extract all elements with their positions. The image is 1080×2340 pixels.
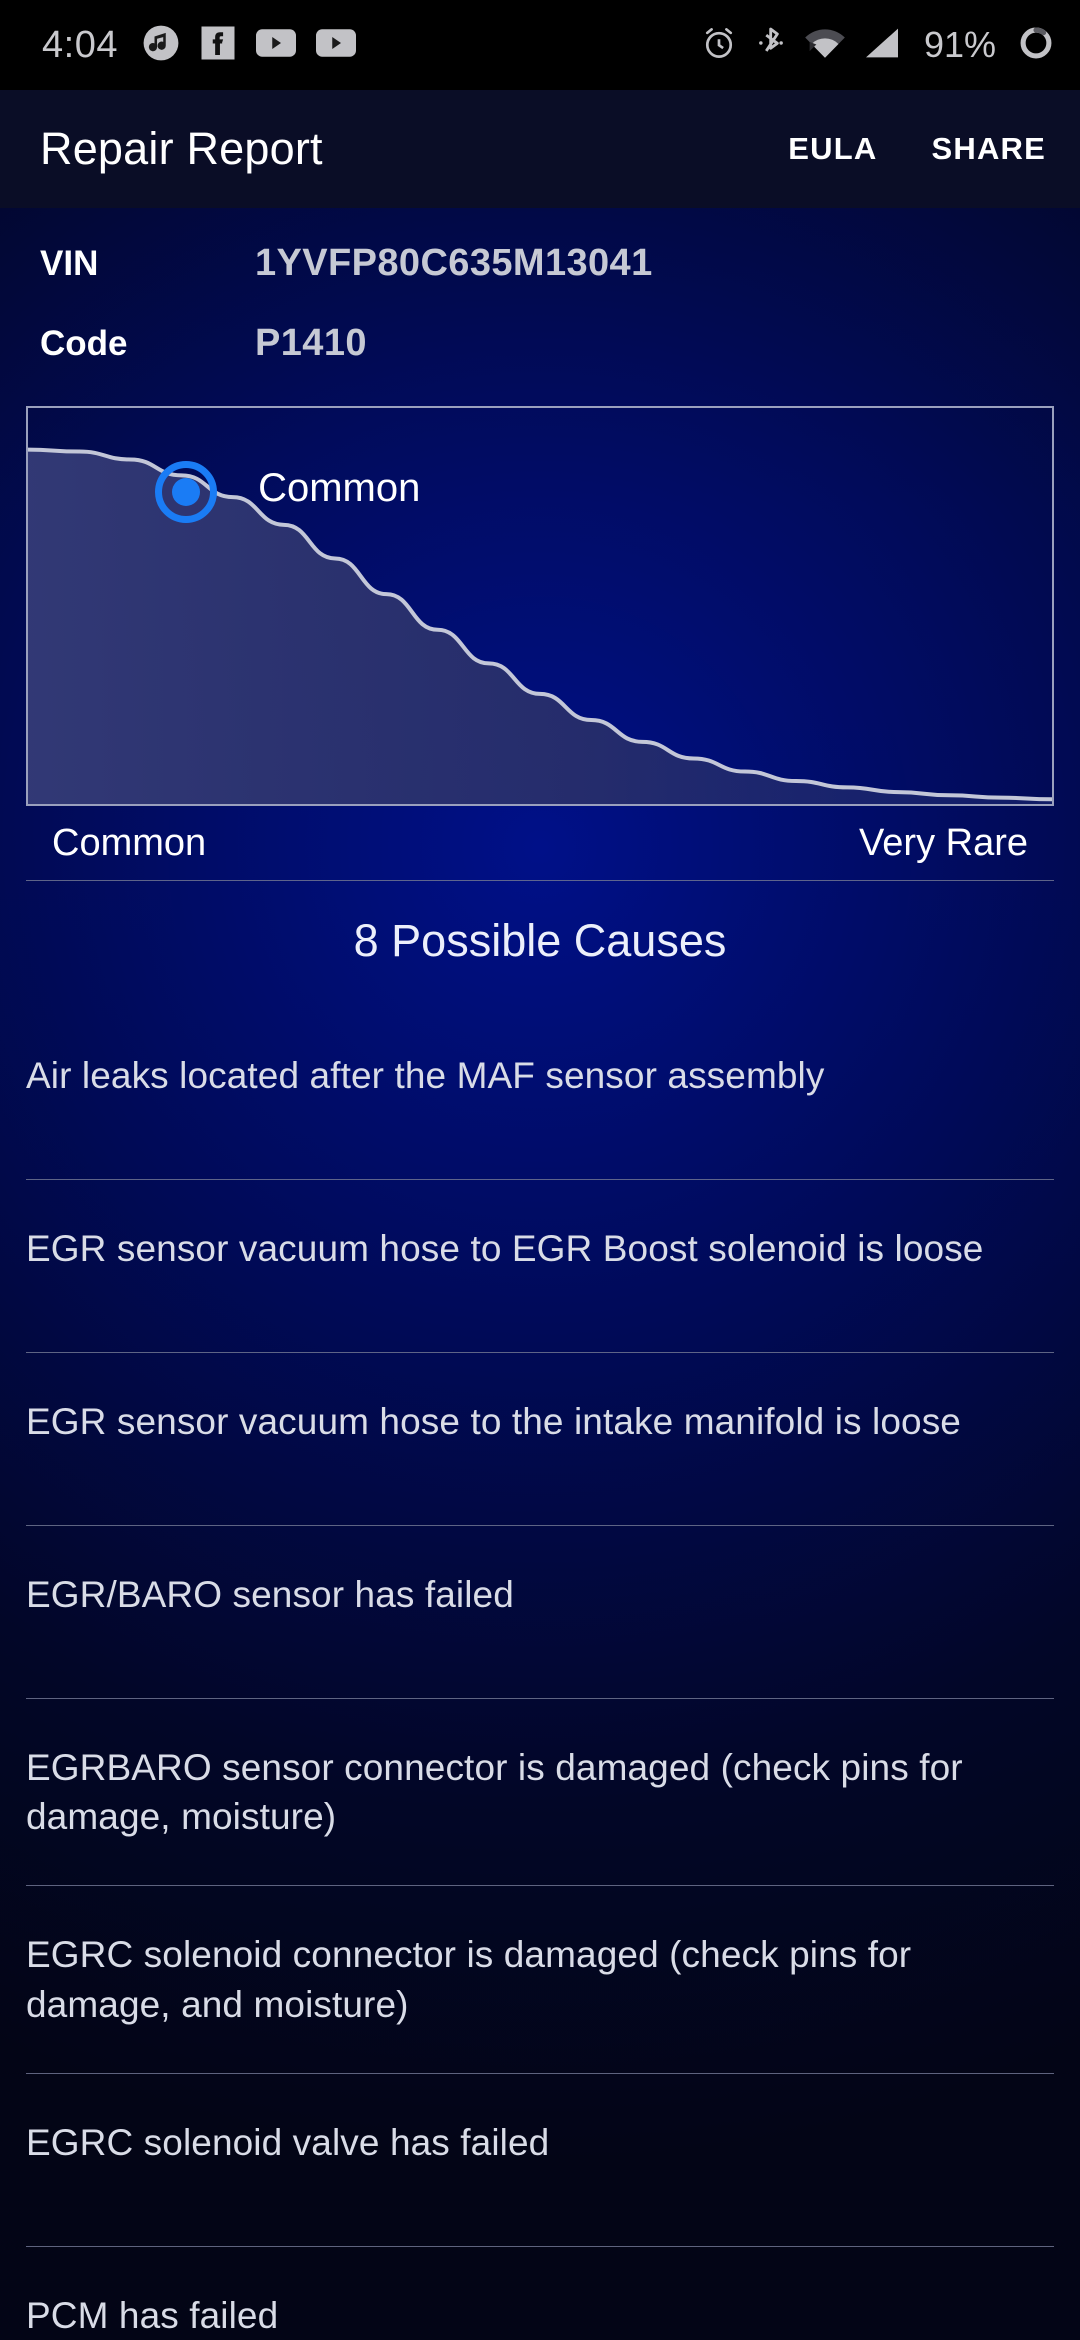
divider — [26, 1698, 1054, 1699]
bluetooth-icon — [756, 24, 786, 67]
share-button[interactable]: SHARE — [931, 131, 1046, 167]
rarity-chart-plot[interactable]: Common — [26, 406, 1054, 806]
rarity-marker-label: Common — [258, 466, 420, 511]
code-value: P1410 — [255, 322, 367, 365]
vin-row: VIN 1YVFP80C635M13041 — [0, 242, 1080, 322]
cause-item-text: Air leaks located after the MAF sensor a… — [26, 1051, 824, 1100]
cause-item-text: EGRC solenoid valve has failed — [26, 2118, 549, 2167]
music-note-icon — [142, 24, 180, 67]
cause-item[interactable]: EGRC solenoid connector is damaged (chec… — [0, 1886, 1080, 2072]
cause-item[interactable]: EGR sensor vacuum hose to the intake man… — [0, 1353, 1080, 1525]
rarity-axis-labels: Common Very Rare — [52, 806, 1028, 880]
cause-item[interactable]: EGRC solenoid valve has failed — [0, 2074, 1080, 2246]
wifi-icon — [804, 27, 846, 64]
code-row: Code P1410 — [0, 322, 1080, 402]
cause-item[interactable]: EGR/BARO sensor has failed — [0, 1526, 1080, 1698]
cause-item-text: EGRC solenoid connector is damaged (chec… — [26, 1930, 1054, 2028]
battery-percent-label: 91% — [924, 24, 996, 66]
vin-value: 1YVFP80C635M13041 — [255, 242, 653, 285]
cause-item[interactable]: PCM has failed — [0, 2247, 1080, 2340]
cause-item-text: EGR sensor vacuum hose to the intake man… — [26, 1397, 961, 1446]
divider — [26, 1179, 1054, 1180]
cause-item-text: EGR/BARO sensor has failed — [26, 1570, 514, 1619]
page-title: Repair Report — [40, 123, 323, 175]
report-content: VIN 1YVFP80C635M13041 Code P1410 — [0, 208, 1080, 2340]
code-label: Code — [40, 324, 255, 364]
youtube-icon — [316, 28, 356, 63]
status-bar-clock: 4:04 — [42, 24, 118, 67]
cause-item-text: EGR sensor vacuum hose to EGR Boost sole… — [26, 1224, 984, 1273]
cell-signal-icon — [864, 27, 900, 64]
status-bar-system-icons: 91% — [700, 24, 1054, 67]
youtube-icon — [256, 28, 296, 63]
battery-ring-icon — [1018, 25, 1054, 66]
axis-label-left: Common — [52, 822, 206, 865]
divider — [26, 1885, 1054, 1886]
app-bar: Repair Report EULA SHARE — [0, 90, 1080, 208]
cause-item-text: PCM has failed — [26, 2291, 278, 2340]
divider — [26, 1525, 1054, 1526]
divider — [26, 880, 1054, 881]
vehicle-meta: VIN 1YVFP80C635M13041 Code P1410 — [0, 208, 1080, 402]
phone-screen: 4:04 — [0, 0, 1080, 2340]
axis-label-right: Very Rare — [859, 822, 1028, 865]
eula-button[interactable]: EULA — [788, 131, 877, 167]
status-bar-notification-icons — [142, 24, 356, 67]
app-bar-actions: EULA SHARE — [788, 131, 1046, 167]
rarity-marker[interactable] — [155, 461, 217, 523]
cause-item[interactable]: EGR sensor vacuum hose to EGR Boost sole… — [0, 1180, 1080, 1352]
status-bar: 4:04 — [0, 0, 1080, 90]
divider — [26, 2246, 1054, 2247]
causes-list: Air leaks located after the MAF sensor a… — [0, 1007, 1080, 2340]
rarity-chart[interactable]: Common Common Very Rare — [26, 406, 1054, 880]
alarm-icon — [700, 24, 738, 67]
cause-item[interactable]: Air leaks located after the MAF sensor a… — [0, 1007, 1080, 1179]
causes-heading: 8 Possible Causes — [0, 881, 1080, 1007]
divider — [26, 2073, 1054, 2074]
cause-item-text: EGRBARO sensor connector is damaged (che… — [26, 1743, 1054, 1841]
cause-item[interactable]: EGRBARO sensor connector is damaged (che… — [0, 1699, 1080, 1885]
divider — [26, 1352, 1054, 1353]
vin-label: VIN — [40, 244, 255, 284]
facebook-icon — [200, 25, 236, 66]
